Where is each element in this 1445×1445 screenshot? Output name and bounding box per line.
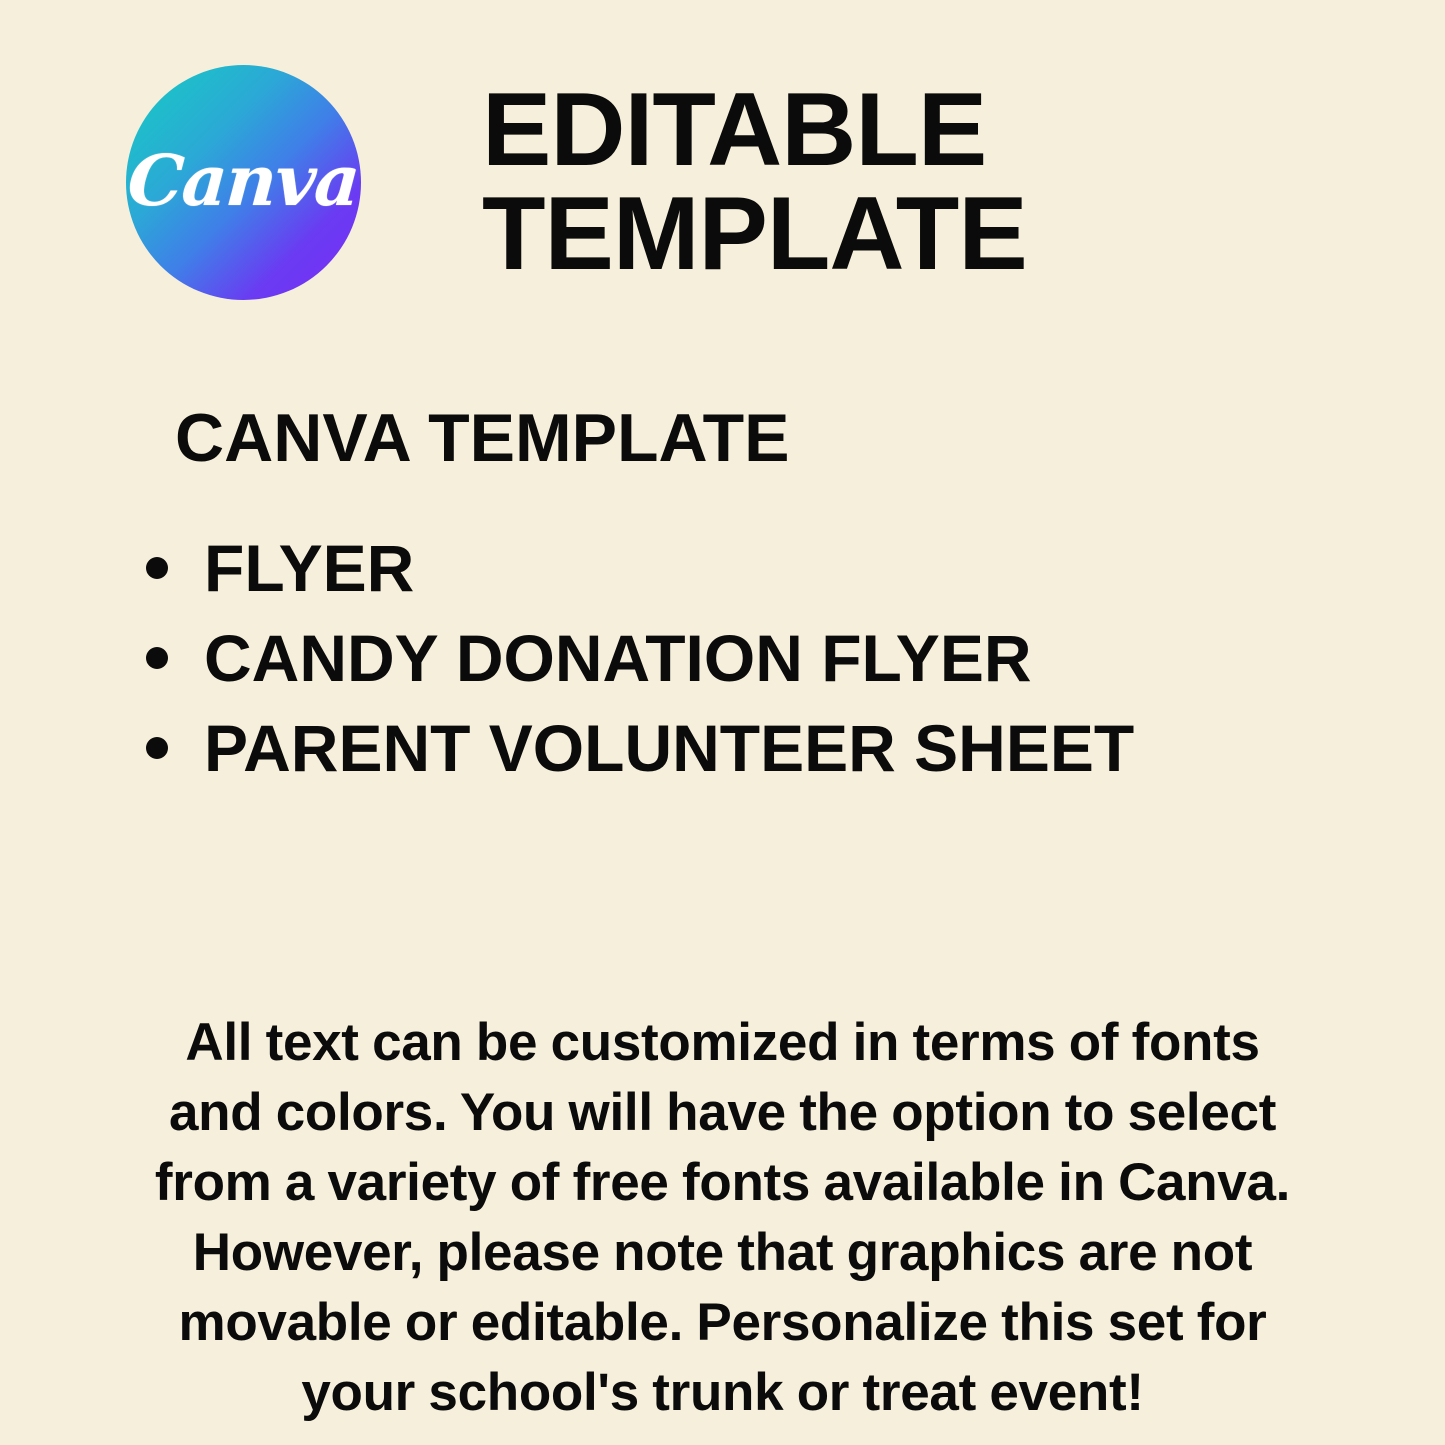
canva-wordmark-text: Canva xyxy=(126,146,361,216)
feature-label: CANDY DONATION FLYER xyxy=(204,625,1032,691)
listing-canvas: Canva EDITABLE TEMPLATE CANVA TEMPLATE F… xyxy=(0,0,1445,1445)
page-title-line-1: EDITABLE xyxy=(482,78,1412,182)
list-item: FLYER xyxy=(140,524,1300,612)
feature-label: PARENT VOLUNTEER SHEET xyxy=(204,715,1134,781)
feature-list: FLYER CANDY DONATION FLYER PARENT VOLUNT… xyxy=(140,524,1300,794)
bullet-dot-icon xyxy=(146,737,168,759)
page-title: EDITABLE TEMPLATE xyxy=(482,78,1412,286)
description-text: All text can be customized in terms of f… xyxy=(140,1008,1305,1428)
list-item: CANDY DONATION FLYER xyxy=(140,614,1300,702)
header-section: Canva EDITABLE TEMPLATE xyxy=(0,0,1445,330)
bullet-dot-icon xyxy=(146,557,168,579)
page-title-line-2: TEMPLATE xyxy=(482,182,1412,286)
bullet-dot-icon xyxy=(146,647,168,669)
list-item: PARENT VOLUNTEER SHEET xyxy=(140,704,1300,792)
feature-label: FLYER xyxy=(204,535,414,601)
section-heading: CANVA TEMPLATE xyxy=(175,404,790,472)
canva-logo-icon: Canva xyxy=(126,65,361,300)
